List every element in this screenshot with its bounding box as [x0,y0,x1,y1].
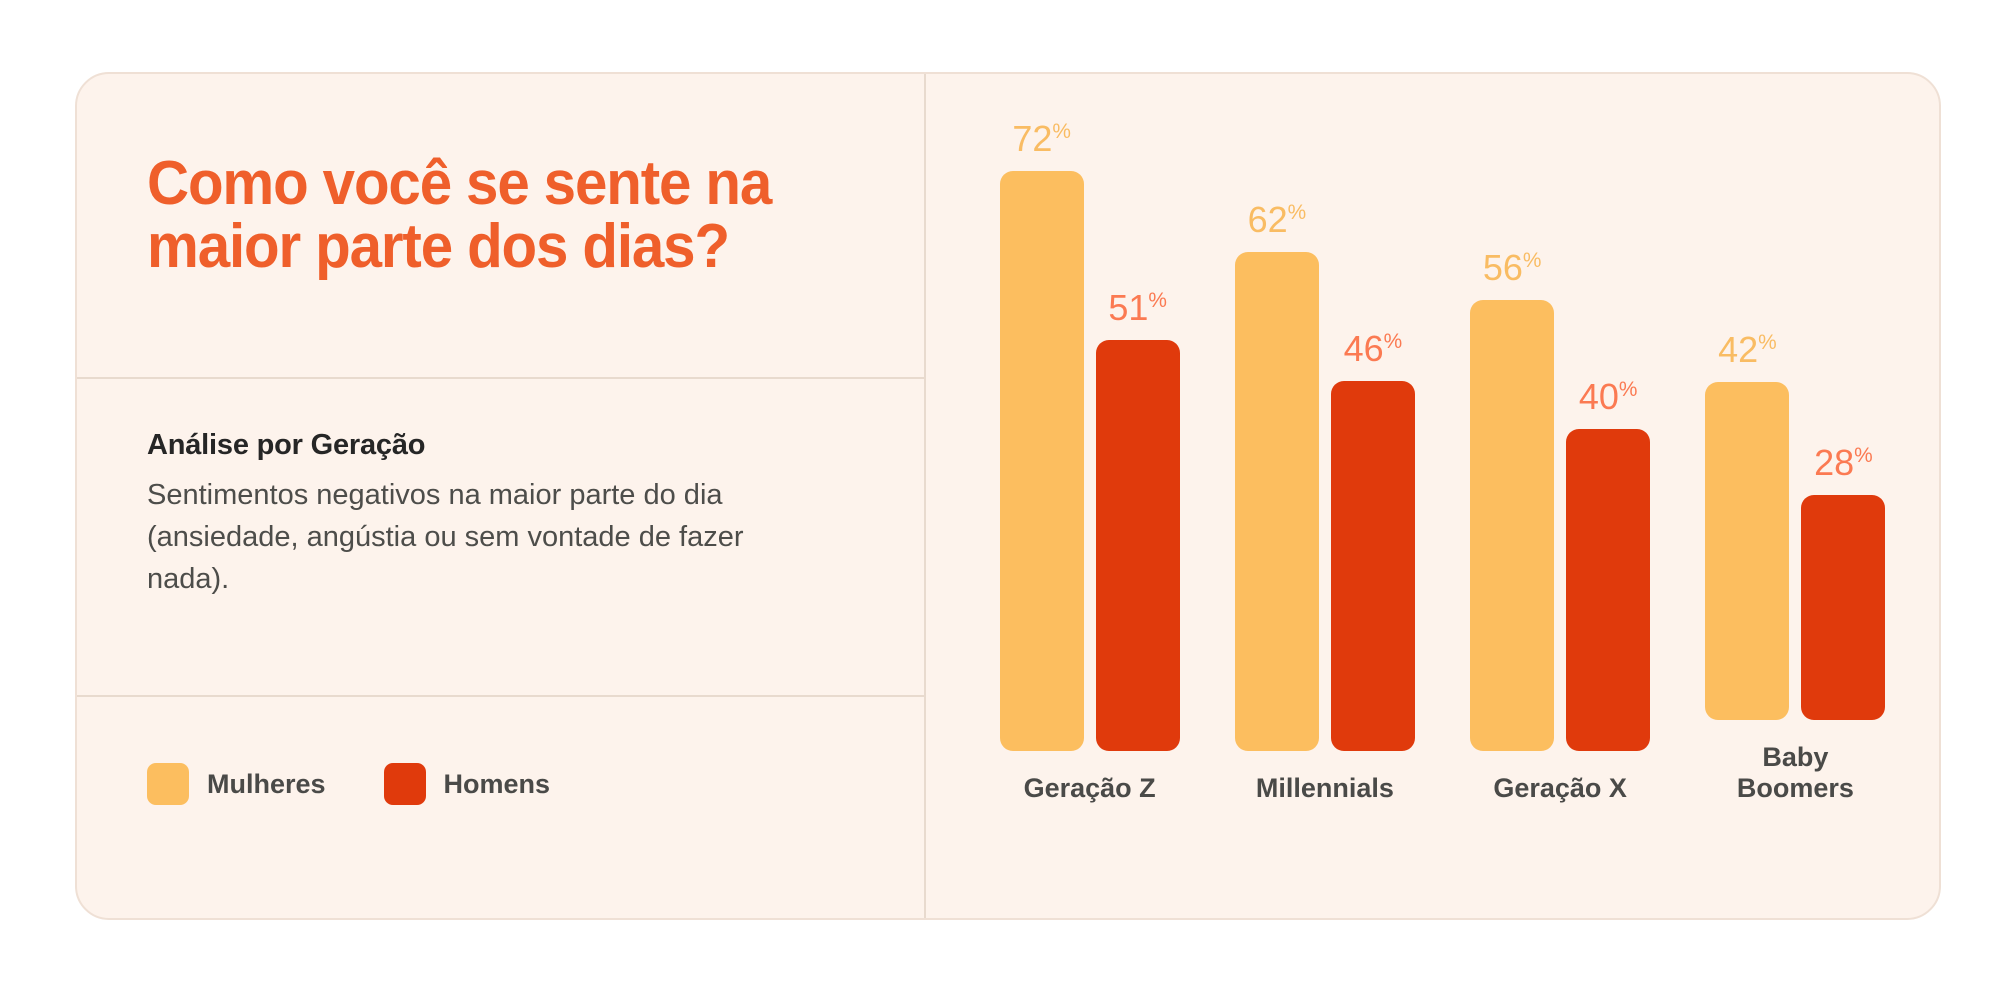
plot-area: 72%51%Geração Z62%46%Millennials56%40%Ge… [972,104,1913,918]
category-label: Geração Z [1024,773,1156,804]
category-label: Millennials [1256,773,1394,804]
analysis-section: Análise por Geração Sentimentos negativo… [77,379,924,697]
bar-homens[interactable]: 28% [1801,72,1885,720]
legend-label-mulheres: Mulheres [207,769,326,800]
legend-section: Mulheres Homens [77,697,924,918]
legend-item-mulheres: Mulheres [147,763,326,805]
legend-swatch-icon-mulheres [147,763,189,805]
bar-rect[interactable] [1566,429,1650,751]
bar-value-label: 46% [1344,331,1403,367]
bar-homens[interactable]: 40% [1566,72,1650,751]
bar-homens[interactable]: 46% [1331,72,1415,751]
bar-rect[interactable] [1096,340,1180,751]
bar-group: 56%40%Geração X [1443,72,1678,804]
bar-group-bars: 62%46% [1235,72,1415,751]
bar-mulheres[interactable]: 62% [1235,72,1319,751]
legend-item-homens: Homens [384,763,551,805]
bar-rect[interactable] [1705,382,1789,720]
chart-panel: 72%51%Geração Z62%46%Millennials56%40%Ge… [924,74,1939,918]
bar-rect[interactable] [1331,381,1415,751]
bar-group-bars: 42%28% [1705,72,1885,720]
bar-value-label: 56% [1483,250,1542,286]
page-title: Como você se sente na maior parte dos di… [147,152,805,278]
bar-group-bars: 56%40% [1470,72,1650,751]
category-label: Baby Boomers [1737,742,1854,804]
chart-legend: Mulheres Homens [147,763,550,805]
legend-label-homens: Homens [444,769,551,800]
bar-value-label: 72% [1012,121,1071,157]
bar-mulheres[interactable]: 56% [1470,72,1554,751]
title-section: Como você se sente na maior parte dos di… [77,74,924,379]
bar-homens[interactable]: 51% [1096,72,1180,751]
bar-group: 72%51%Geração Z [972,72,1207,804]
analysis-description: Sentimentos negativos na maior parte do … [147,475,747,600]
bar-group: 42%28%Baby Boomers [1678,72,1913,804]
analysis-heading: Análise por Geração [147,429,425,462]
bar-rect[interactable] [1470,300,1554,751]
bar-value-label: 62% [1248,202,1307,238]
bar-group-bars: 72%51% [1000,72,1180,751]
bar-mulheres[interactable]: 72% [1000,72,1084,751]
bar-mulheres[interactable]: 42% [1705,72,1789,720]
bar-value-label: 28% [1814,445,1873,481]
bar-rect[interactable] [1235,252,1319,751]
bar-rect[interactable] [1801,495,1885,720]
category-label: Geração X [1493,773,1627,804]
bar-value-label: 42% [1718,332,1777,368]
legend-swatch-icon-homens [384,763,426,805]
infographic-card: Como você se sente na maior parte dos di… [75,72,1941,920]
bar-value-label: 51% [1108,290,1167,326]
left-panel: Como você se sente na maior parte dos di… [77,74,924,918]
bar-group: 62%46%Millennials [1207,72,1442,804]
bar-rect[interactable] [1000,171,1084,751]
bar-groups: 72%51%Geração Z62%46%Millennials56%40%Ge… [972,104,1913,804]
bar-value-label: 40% [1579,379,1638,415]
